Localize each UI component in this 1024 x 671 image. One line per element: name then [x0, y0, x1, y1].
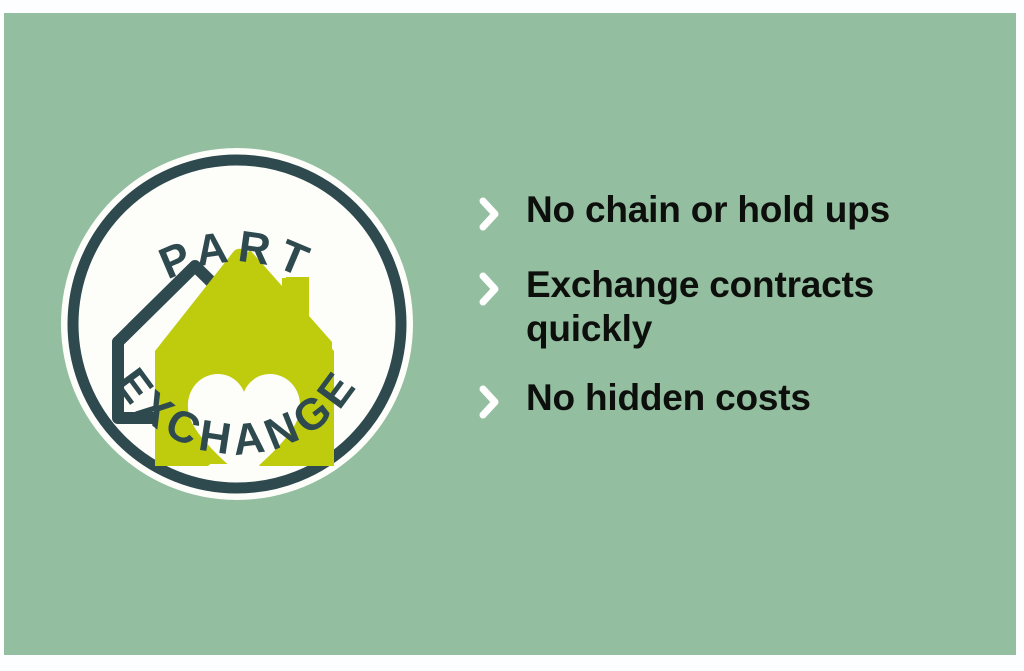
list-item-label: No chain or hold ups	[526, 188, 890, 232]
part-exchange-logo: PART EXCHANGE	[48, 146, 426, 502]
list-item: No chain or hold ups	[474, 188, 994, 237]
banner-canvas: PART EXCHANGE No chain or hold ups Excha…	[0, 0, 1024, 671]
list-item: No hidden costs	[474, 376, 994, 425]
benefits-list: No chain or hold ups Exchange contracts …	[474, 188, 994, 425]
chevron-right-icon	[474, 266, 504, 312]
list-item-label: Exchange contracts quickly	[526, 263, 966, 350]
chevron-right-icon	[474, 191, 504, 237]
list-item-label: No hidden costs	[526, 376, 811, 420]
chevron-right-icon	[474, 379, 504, 425]
list-item: Exchange contracts quickly	[474, 263, 994, 350]
